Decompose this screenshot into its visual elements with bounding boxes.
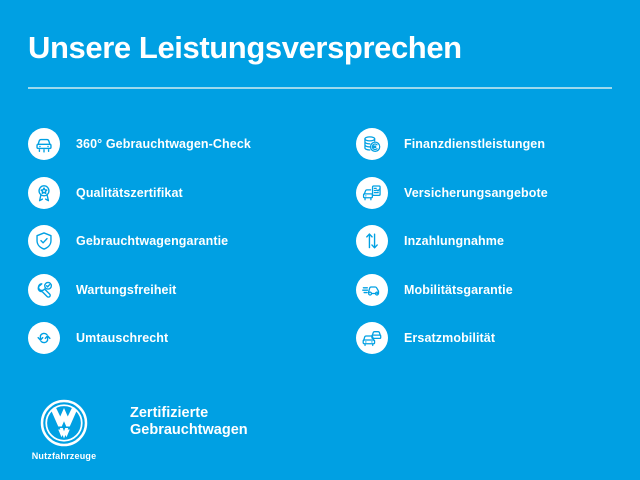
- feature-label: Umtauschrecht: [76, 331, 168, 345]
- arrows-up-down-icon: [356, 225, 388, 257]
- footer-text: Zertifizierte Gebrauchtwagen: [130, 405, 248, 439]
- exchange-arrows-icon: [28, 322, 60, 354]
- van-motion-icon: [356, 274, 388, 306]
- feature-label: Mobilitätsgarantie: [404, 283, 513, 297]
- footer-text-line2: Gebrauchtwagen: [130, 422, 248, 439]
- slide-root: Unsere Leistungsversprechen 360° Gebrauc…: [0, 0, 640, 480]
- shield-check-icon: [28, 225, 60, 257]
- logo-block: Nutzfahrzeuge: [28, 398, 100, 461]
- feature-label: Wartungsfreiheit: [76, 283, 176, 297]
- feature-label: Inzahlungnahme: [404, 234, 504, 248]
- feature-label: Qualitätszertifikat: [76, 186, 183, 200]
- feature-item[interactable]: Finanzdienstleistungen: [356, 120, 640, 169]
- feature-item[interactable]: Qualitätszertifikat: [28, 169, 328, 218]
- feature-label: Ersatzmobilität: [404, 331, 495, 345]
- footer-text-line1: Zertifizierte: [130, 405, 248, 422]
- wrench-check-icon: [28, 274, 60, 306]
- feature-item[interactable]: Gebrauchtwagengarantie: [28, 217, 328, 266]
- feature-item[interactable]: Ersatzmobilität: [356, 314, 640, 363]
- feature-item[interactable]: Versicherungsangebote: [356, 169, 640, 218]
- award-rosette-icon: [28, 177, 60, 209]
- feature-item[interactable]: 360° Gebrauchtwagen-Check: [28, 120, 328, 169]
- feature-item[interactable]: Umtauschrecht: [28, 314, 328, 363]
- footer-branding: Nutzfahrzeuge Zertifizierte Gebrauchtwag…: [28, 398, 248, 461]
- feature-label: 360° Gebrauchtwagen-Check: [76, 137, 251, 151]
- feature-label: Versicherungsangebote: [404, 186, 548, 200]
- volkswagen-logo: [39, 398, 89, 448]
- title-divider: [28, 87, 612, 89]
- feature-column-left: 360° Gebrauchtwagen-Check Qualitätszerti…: [28, 120, 328, 363]
- two-cars-icon: [356, 322, 388, 354]
- feature-item[interactable]: Mobilitätsgarantie: [356, 266, 640, 315]
- feature-item[interactable]: Wartungsfreiheit: [28, 266, 328, 315]
- feature-label: Finanzdienstleistungen: [404, 137, 545, 151]
- car-document-check-icon: [356, 177, 388, 209]
- logo-subtitle: Nutzfahrzeuge: [32, 451, 97, 461]
- car-check-360-icon: [28, 128, 60, 160]
- feature-item[interactable]: Inzahlungnahme: [356, 217, 640, 266]
- coins-euro-icon: [356, 128, 388, 160]
- feature-label: Gebrauchtwagengarantie: [76, 234, 228, 248]
- feature-column-right: Finanzdienstleistungen Versicherungsange…: [356, 120, 640, 363]
- page-title: Unsere Leistungsversprechen: [28, 30, 462, 66]
